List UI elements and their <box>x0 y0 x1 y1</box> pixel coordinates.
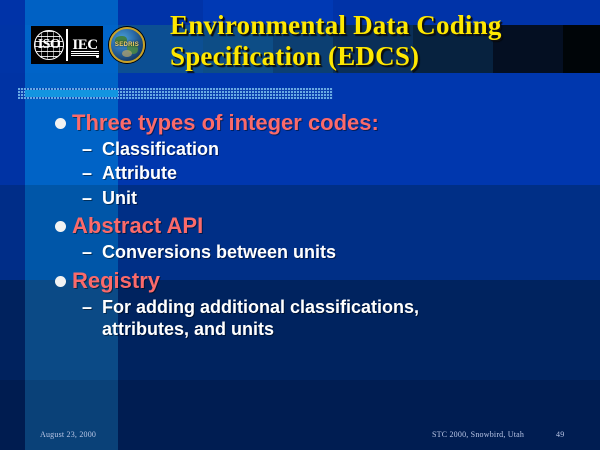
bullet-level2: – Unit <box>82 187 600 210</box>
bullet-level2: – Attribute <box>82 162 600 185</box>
bullet-level2: – For adding additional classifications,… <box>82 296 600 341</box>
logo-group: ISO IEC SEDRIS <box>31 26 145 64</box>
bullet-level1-text: Abstract API <box>72 213 203 239</box>
bullet-level2-text: Conversions between units <box>102 241 336 264</box>
bg-block <box>0 0 25 25</box>
iec-lines-icon <box>71 51 99 57</box>
bullet-level1: Registry <box>55 268 600 294</box>
bullet-level2-text: For adding additional classifications, a… <box>102 296 502 341</box>
sedris-earth-logo: SEDRIS <box>109 27 145 63</box>
bg-block <box>25 0 118 25</box>
dash-icon: – <box>82 162 95 185</box>
presentation-slide: ISO IEC SEDRIS Environmental Data Coding… <box>0 0 600 450</box>
footer-venue: STC 2000, Snowbird, Utah <box>432 430 524 439</box>
bullet-level2: – Conversions between units <box>82 241 600 264</box>
slide-body: Three types of integer codes: – Classifi… <box>0 110 600 343</box>
bullet-level2-text: Unit <box>102 187 137 210</box>
slide-title: Environmental Data Coding Specification … <box>170 10 580 72</box>
slide-footer: August 23, 2000 STC 2000, Snowbird, Utah… <box>0 424 600 450</box>
dash-icon: – <box>82 296 95 319</box>
title-underline-solid-segment <box>25 90 118 97</box>
slide-title-line-1: Environmental Data Coding <box>170 10 580 41</box>
iec-logo: IEC <box>67 26 103 64</box>
iec-dot-icon <box>96 55 99 58</box>
bullet-level2: – Classification <box>82 138 600 161</box>
bullet-point-icon <box>55 221 66 232</box>
iso-label: ISO <box>38 37 61 53</box>
dash-icon: – <box>82 241 95 264</box>
sedris-label: SEDRIS <box>115 42 139 48</box>
bullet-level1: Three types of integer codes: <box>55 110 600 136</box>
bullet-level1-text: Three types of integer codes: <box>72 110 379 136</box>
footer-page-number: 49 <box>556 430 564 439</box>
iso-iec-logo: ISO IEC <box>31 26 103 64</box>
bullet-level1: Abstract API <box>55 213 600 239</box>
slide-title-line-2: Specification (EDCS) <box>170 41 580 72</box>
dash-icon: – <box>82 187 95 210</box>
footer-date: August 23, 2000 <box>40 430 96 439</box>
bullet-point-icon <box>55 118 66 129</box>
dash-icon: – <box>82 138 95 161</box>
globe-landmass-icon <box>122 50 132 57</box>
bullet-point-icon <box>55 276 66 287</box>
bg-block <box>0 25 25 73</box>
iso-logo: ISO <box>31 26 67 64</box>
bullet-level2-text: Attribute <box>102 162 177 185</box>
bullet-level2-text: Classification <box>102 138 219 161</box>
bullet-level1-text: Registry <box>72 268 160 294</box>
